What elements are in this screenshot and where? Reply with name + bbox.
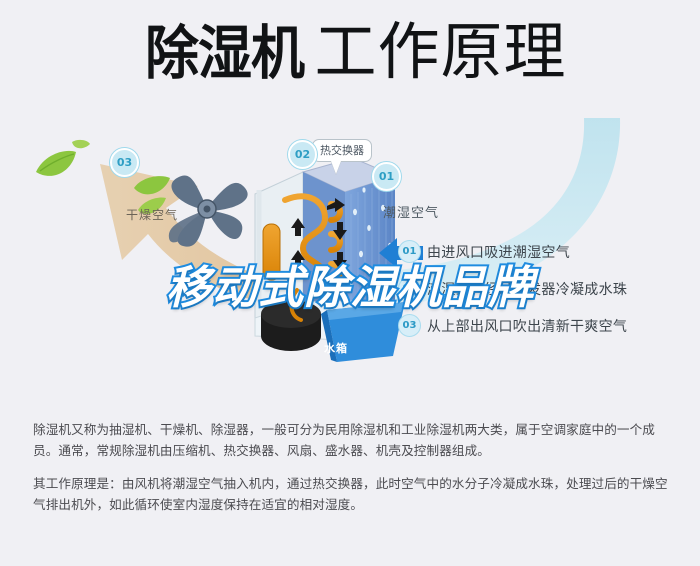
diagram-badge-01: 01: [372, 162, 401, 191]
step-badge-01: 01: [398, 240, 421, 263]
page-title: 除湿机工作原理: [0, 22, 700, 84]
diagram-badge-02: 02: [288, 140, 317, 169]
leaf-icon-group: [28, 138, 98, 198]
page-title-part2: 工作原理: [315, 22, 567, 84]
heat-exchanger-callout: 热交换器: [312, 139, 372, 162]
page-title-part1: 除湿机: [145, 24, 304, 82]
step-badge-03: 03: [398, 314, 421, 337]
humid-air-label: 潮湿空气: [383, 202, 439, 221]
list-item: 03 从上部出风口吹出清新干爽空气: [398, 314, 688, 337]
dry-air-label: 干燥空气: [126, 206, 178, 223]
list-item: 01 由进风口吸进潮湿空气: [398, 240, 688, 263]
brand-watermark: 移动式除湿机品牌: [0, 264, 700, 311]
infographic-page: 除湿机工作原理: [0, 0, 700, 566]
water-tank-label: 水箱: [324, 340, 348, 356]
step-text-03: 从上部出风口吹出清新干爽空气: [427, 316, 627, 336]
body-paragraph-1: 除湿机又称为抽湿机、干燥机、除湿器，一般可分为民用除湿机和工业除湿机两大类，属于…: [33, 419, 673, 461]
body-copy: 除湿机又称为抽湿机、干燥机、除湿器，一般可分为民用除湿机和工业除湿机两大类，属于…: [33, 419, 673, 527]
body-paragraph-2: 其工作原理是：由风机将潮湿空气抽入机内，通过热交换器，此时空气中的水分子冷凝成水…: [33, 473, 673, 515]
diagram-badge-03: 03: [110, 148, 139, 177]
step-text-01: 由进风口吸进潮湿空气: [427, 242, 570, 262]
